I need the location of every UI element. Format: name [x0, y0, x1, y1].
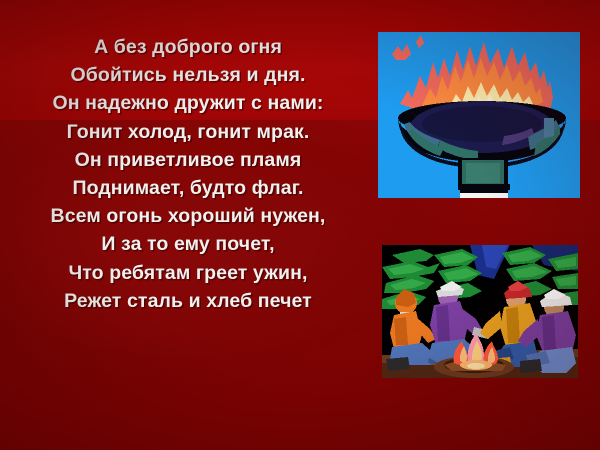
poem-line: Обойтись нельзя и дня.: [14, 61, 362, 89]
campfire-scene-image: [382, 245, 578, 378]
poem-line: Гонит холод, гонит мрак.: [14, 118, 362, 146]
poem-line: Поднимает, будто флаг.: [14, 174, 362, 202]
poem-line: Что ребятам греет ужин,: [14, 259, 362, 287]
poem-line: Он надежно дружит с нами:: [14, 89, 362, 117]
poem-text-block: А без доброго огня Обойтись нельзя и дня…: [14, 33, 362, 315]
poem-line: Он приветливое пламя: [14, 146, 362, 174]
slide-canvas: А без доброго огня Обойтись нельзя и дня…: [0, 0, 600, 450]
poem-line: Режет сталь и хлеб печет: [14, 287, 362, 315]
poem-line: И за то ему почет,: [14, 230, 362, 258]
poem-line: Всем огонь хороший нужен,: [14, 202, 362, 230]
poem-line: А без доброго огня: [14, 33, 362, 61]
torch-flame-image: [378, 32, 580, 198]
